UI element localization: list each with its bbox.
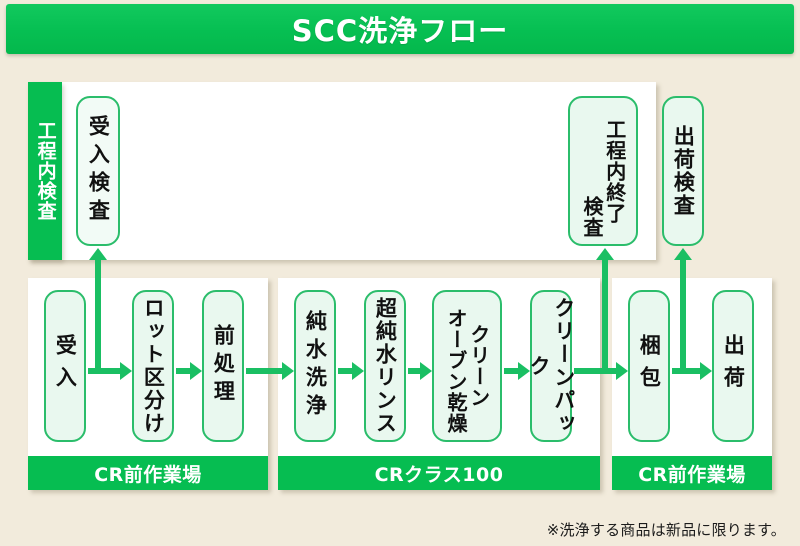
box-shipping-inspection-label: 出荷検査 [671,125,696,217]
process-group-2-footer: CRクラス100 [278,456,600,490]
box-ultrapure-water-rinse[interactable]: 超純水リンス [364,290,406,442]
box-pure-water-wash-label: 純水洗浄 [303,310,328,422]
box-clean-pack[interactable]: クリーンパック [530,290,572,442]
footnote: ※洗浄する商品は新品に限ります。 [547,519,786,540]
box-clean-oven-dry-text: クリーン オーブン乾燥 [436,298,498,434]
inspection-band-label-text: 工程内検査 [34,121,55,221]
arrow-lot-sorting-to-pre-treatment [176,362,202,380]
inspection-panel [28,82,656,260]
box-pre-treatment[interactable]: 前処理 [202,290,244,442]
arrow-ultrapure-rinse-to-clean-oven-dry [408,362,432,380]
arrow-clean-oven-dry-to-clean-pack [504,362,530,380]
box-shipping[interactable]: 出荷 [712,290,754,442]
box-process-end-inspection-col-right: 工程内終了 [603,119,626,224]
title-banner: SCC洗浄フロー [6,4,794,54]
process-group-1-footer: CR前作業場 [28,456,268,490]
box-pre-treatment-label: 前処理 [211,324,236,408]
box-shipping-inspection[interactable]: 出荷検査 [662,96,704,246]
page-title: SCC洗浄フロー [292,8,508,50]
box-receive-label: 受入 [53,334,78,398]
arrow-pure-water-wash-to-ultrapure-rinse [338,362,364,380]
box-pure-water-wash[interactable]: 純水洗浄 [294,290,336,442]
box-process-end-inspection-col-left: 検査 [580,196,603,238]
flow-diagram-canvas: SCC洗浄フロー 工程内検査 受入検査 工程内終了 検査 出荷検査 CR前作業場… [0,0,800,546]
box-clean-pack-label: クリーンパック [526,292,576,440]
box-packing[interactable]: 梱包 [628,290,670,442]
arrow-receive-to-incoming-inspection [89,248,107,370]
process-group-3-footer: CR前作業場 [612,456,772,490]
box-lot-sorting[interactable]: ロット区分け [132,290,174,442]
box-process-end-inspection[interactable]: 工程内終了 検査 [568,96,638,246]
inspection-band-label: 工程内検査 [28,82,62,260]
box-clean-oven-dry-col-right: クリーン [467,324,490,408]
box-shipping-label: 出荷 [721,334,746,398]
box-ultrapure-water-rinse-label: 超純水リンス [373,297,398,435]
box-clean-oven-dry[interactable]: クリーン オーブン乾燥 [432,290,502,442]
box-clean-oven-dry-col-left: オーブン乾燥 [444,308,467,434]
box-packing-label: 梱包 [637,334,662,398]
box-process-end-inspection-text: 工程内終了 検査 [572,104,634,238]
arrow-clean-pack-to-process-end-inspection [596,248,614,370]
arrow-packing-to-shipping-inspection [674,248,692,370]
box-incoming-inspection-label: 受入検査 [86,115,111,227]
arrow-pre-treatment-to-pure-water-wash [246,362,294,380]
box-lot-sorting-label: ロット区分け [141,297,166,435]
box-incoming-inspection[interactable]: 受入検査 [76,96,120,246]
box-receive[interactable]: 受入 [44,290,86,442]
